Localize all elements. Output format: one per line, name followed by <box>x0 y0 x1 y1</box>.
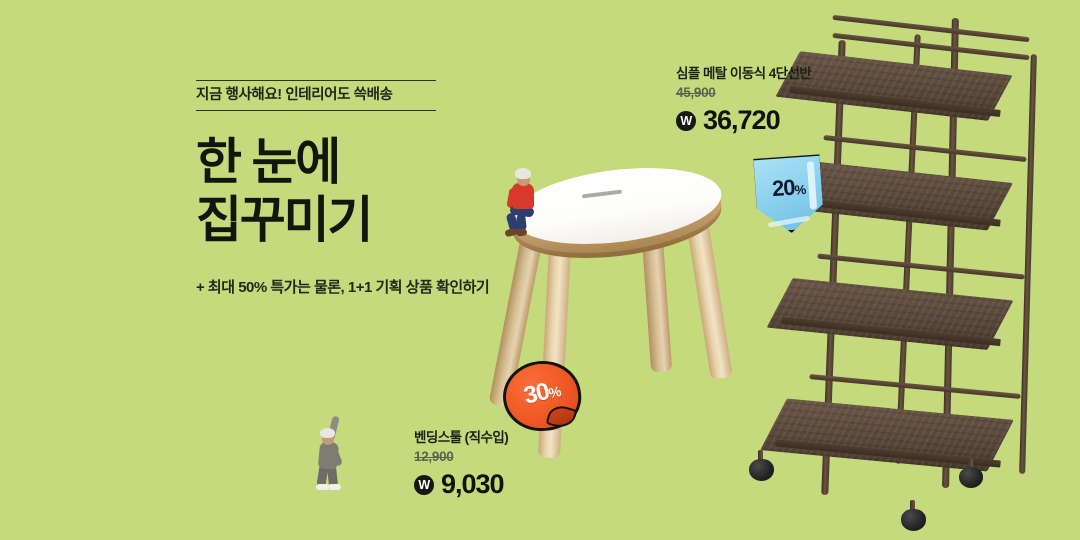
price-row-metal-shelf: W 36,720 <box>676 107 811 134</box>
eyebrow-rule-wrap: 지금 행사해요! 인테리어도 쓱배송 <box>196 80 436 111</box>
shelf-rail-4 <box>809 374 1021 399</box>
price-row-wooden-stool: W 9,030 <box>414 471 508 498</box>
discount-badge-20[interactable]: 20% <box>750 153 827 236</box>
discount-20-value: 20 <box>771 175 795 202</box>
discount-30-value: 30 <box>521 378 551 410</box>
won-badge-icon: W <box>676 111 696 131</box>
stool-leg-back-right <box>685 213 733 379</box>
product-new-price-wooden-stool: 9,030 <box>441 471 504 498</box>
shelf-post-back-right <box>1019 54 1037 474</box>
mini-figure-standing <box>312 418 352 490</box>
promo-banner: 지금 행사해요! 인테리어도 쓱배송 한 눈에 집꾸미기 + 최대 50% 특가… <box>0 0 1080 540</box>
shelf-rail-2 <box>823 135 1026 162</box>
headline-line-1: 한 눈에 <box>196 134 339 190</box>
eyebrow-text: 지금 행사해요! 인테리어도 쓱배송 <box>196 88 436 104</box>
discount-badge-30[interactable]: 30% <box>503 361 581 431</box>
product-old-price-metal-shelf: 45,900 <box>676 85 811 100</box>
product-name-wooden-stool: 벤딩스툴 (직수입) <box>414 426 508 446</box>
product-label-wooden-stool[interactable]: 벤딩스툴 (직수입) 12,900 W 9,030 <box>414 426 508 498</box>
won-badge-icon: W <box>414 475 434 495</box>
product-name-metal-shelf: 심플 메탈 이동식 4단선반 <box>676 62 811 82</box>
product-old-price-wooden-stool: 12,900 <box>414 449 508 464</box>
discount-20-suffix: % <box>794 182 806 198</box>
mini-figure-seated <box>504 168 544 240</box>
shelf-rail-3 <box>817 254 1024 280</box>
product-new-price-metal-shelf: 36,720 <box>703 107 780 134</box>
product-label-metal-shelf[interactable]: 심플 메탈 이동식 4단선반 45,900 W 36,720 <box>676 62 811 134</box>
discount-30-suffix: % <box>547 383 562 401</box>
